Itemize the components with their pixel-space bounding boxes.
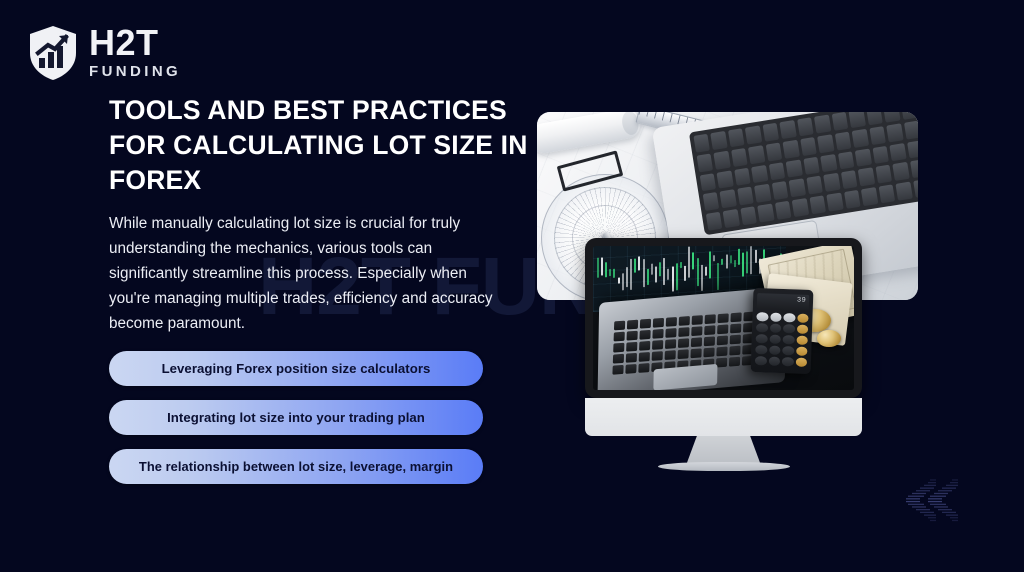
- logo-secondary-text: FUNDING: [89, 63, 181, 80]
- logo-primary-text: H2T: [89, 26, 181, 60]
- calculator-display: 39: [757, 293, 810, 311]
- calculator-keypad: [755, 312, 809, 367]
- screen-laptop-trackpad: [654, 364, 718, 390]
- double-chevron-right-icon: [903, 478, 965, 524]
- monitor-screen: 39: [593, 246, 854, 390]
- poster-canvas: H2T FUNDING H2T FUNDING TOOLS AND BEST P…: [0, 0, 1024, 572]
- monitor-stand-neck: [687, 436, 761, 464]
- monitor-chin: [585, 398, 862, 436]
- body-paragraph: While manually calculating lot size is c…: [109, 212, 499, 337]
- monitor-bezel: 39: [585, 238, 862, 398]
- calculator-device: 39: [751, 288, 814, 374]
- topic-pill-2[interactable]: Integrating lot size into your trading p…: [109, 400, 483, 435]
- topic-pill-list: Leveraging Forex position size calculato…: [109, 351, 483, 484]
- desktop-monitor: 39: [585, 238, 862, 470]
- monitor-stand-base: [658, 462, 790, 471]
- page-title: TOOLS AND BEST PRACTICES FOR CALCULATING…: [109, 93, 529, 199]
- topic-pill-1[interactable]: Leveraging Forex position size calculato…: [109, 351, 483, 386]
- shield-growth-chart-icon: [28, 25, 78, 81]
- topic-pill-3[interactable]: The relationship between lot size, lever…: [109, 449, 483, 484]
- laptop-keyboard: [689, 112, 918, 235]
- brand-logo[interactable]: H2T FUNDING: [28, 25, 181, 81]
- logo-wordmark: H2T FUNDING: [89, 26, 181, 80]
- coin-3: [817, 330, 840, 347]
- screen-laptop-keyboard: [613, 310, 768, 374]
